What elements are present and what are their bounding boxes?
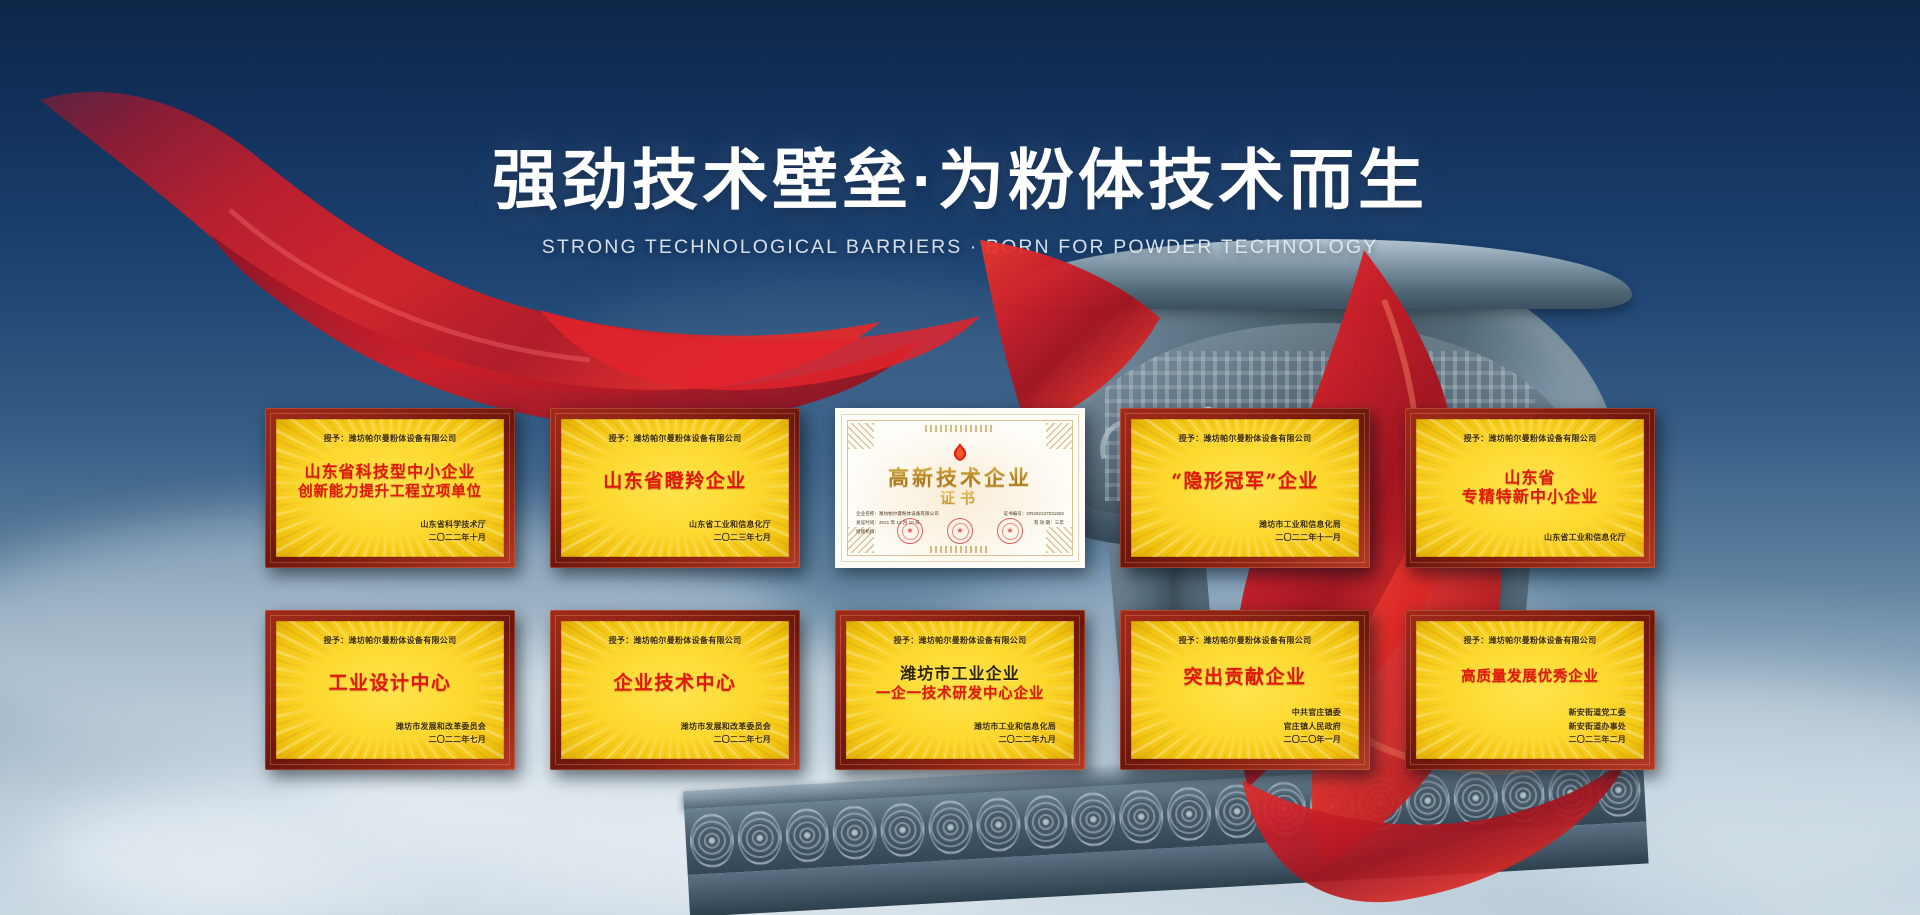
plaque-title-line: 山东省 (1504, 469, 1555, 488)
medallion (1547, 764, 1594, 820)
plaque-title-line: 创新能力提升工程立项单位 (298, 483, 482, 500)
flame-emblem-icon (949, 442, 971, 464)
plaque-title-line: 一企一技术研发中心企业 (876, 685, 1044, 702)
plaque-title-line: 企业技术中心 (613, 672, 736, 694)
official-seal-icon (997, 518, 1023, 544)
plaque-award-to: 授予：潍坊帕尔曼粉体设备有限公司 (324, 635, 457, 646)
plaque-card[interactable]: 授予：潍坊帕尔曼粉体设备有限公司 潍坊市工业企业 一企一技术研发中心企业 潍坊市… (835, 610, 1085, 770)
plaque-award-to: 授予：潍坊帕尔曼粉体设备有限公司 (1179, 635, 1312, 646)
official-seal-icon (897, 518, 923, 544)
plaque-plate: 授予：潍坊帕尔曼粉体设备有限公司 山东省科技型中小企业 创新能力提升工程立项单位… (276, 419, 504, 557)
medallion (927, 799, 974, 855)
top-ornament-icon (925, 425, 995, 432)
page-subtitle: STRONG TECHNOLOGICAL BARRIERS · BORN FOR… (0, 236, 1920, 259)
official-seal-icon (947, 518, 973, 544)
plaque-issuer: 潍坊市工业和信息化局 (860, 720, 1056, 733)
wheat-corner-ornament-icon (848, 423, 874, 449)
plaque-issuer2: 官庄镇人民政府 (1145, 720, 1341, 733)
plaque-signature: 潍坊市工业和信息化局 二〇二二年十一月 (1145, 518, 1345, 544)
certificate-row-2: 授予：潍坊帕尔曼粉体设备有限公司 工业设计中心 潍坊市发展和改革委员会 二〇二二… (265, 610, 1655, 770)
medallion (1261, 780, 1308, 836)
plaque-plate: 授予：潍坊帕尔曼粉体设备有限公司 突出贡献企业 中共官庄镇委 官庄镇人民政府 二… (1131, 621, 1359, 759)
plaque-date: 二〇二〇年一月 (1145, 733, 1341, 746)
plaque-title-line: 潍坊市工业企业 (900, 665, 1020, 684)
plaque-title: 突出贡献企业 (1145, 647, 1345, 706)
plaque-issuer2: 新安街道办事处 (1430, 720, 1626, 733)
medallion (736, 810, 783, 866)
plaque-card[interactable]: 授予：潍坊帕尔曼粉体设备有限公司 山东省科技型中小企业 创新能力提升工程立项单位… (265, 408, 515, 568)
plaque-title: 山东省瞪羚企业 (575, 445, 775, 518)
banner-titles: 强劲技术壁垒·为粉体技术而生 STRONG TECHNOLOGICAL BARR… (0, 142, 1920, 259)
medallion (879, 802, 926, 858)
plaque-title: 工业设计中心 (290, 647, 490, 720)
plaque-award-to: 授予：潍坊帕尔曼粉体设备有限公司 (1464, 635, 1597, 646)
plaque-signature: 山东省科学技术厅 二〇二二年十月 (290, 518, 490, 544)
plaque-issuer: 山东省工业和信息化厅 (1430, 531, 1626, 544)
plaque-date: 二〇二二年七月 (290, 733, 486, 746)
plaque-title: 山东省 专精特新中小企业 (1430, 445, 1630, 531)
plaque-issuer: 新安街道党工委 (1430, 706, 1626, 719)
medallion (1452, 770, 1499, 826)
plaque-card[interactable]: 授予：潍坊帕尔曼粉体设备有限公司 企业技术中心 潍坊市发展和改革委员会 二〇二二… (550, 610, 800, 770)
plaque-signature: 山东省工业和信息化厅 二〇二三年七月 (575, 518, 775, 544)
plaque-signature: 潍坊市工业和信息化局 二〇二二年九月 (860, 720, 1060, 746)
plaque-signature: 潍坊市发展和改革委员会 二〇二二年七月 (290, 720, 490, 746)
plaque-card[interactable]: 授予：潍坊帕尔曼粉体设备有限公司 突出贡献企业 中共官庄镇委 官庄镇人民政府 二… (1120, 610, 1370, 770)
plaque-award-to: 授予：潍坊帕尔曼粉体设备有限公司 (1179, 433, 1312, 444)
plaque-title: 潍坊市工业企业 一企一技术研发中心企业 (860, 647, 1060, 720)
plaque-title-line: 突出贡献企业 (1183, 666, 1306, 688)
medallion (832, 804, 879, 860)
certificate-gallery: 授予：潍坊帕尔曼粉体设备有限公司 山东省科技型中小企业 创新能力提升工程立项单位… (0, 408, 1920, 770)
plaque-award-to: 授予：潍坊帕尔曼粉体设备有限公司 (609, 635, 742, 646)
medallion (784, 807, 831, 863)
plaque-card[interactable]: 授予：潍坊帕尔曼粉体设备有限公司 山东省瞪羚企业 山东省工业和信息化厅 二〇二三… (550, 408, 800, 568)
medallion (1022, 794, 1069, 850)
plaque-plate: 授予：潍坊帕尔曼粉体设备有限公司 工业设计中心 潍坊市发展和改革委员会 二〇二二… (276, 621, 504, 759)
plaque-award-to: 授予：潍坊帕尔曼粉体设备有限公司 (609, 433, 742, 444)
plaque-title-line: 山东省瞪羚企业 (603, 470, 747, 492)
plaque-date: 二〇二三年七月 (575, 531, 771, 544)
plaque-issuer: 潍坊市发展和改革委员会 (575, 720, 771, 733)
plaque-plate: 授予：潍坊帕尔曼粉体设备有限公司 “隐形冠军”企业 潍坊市工业和信息化局 二〇二… (1131, 419, 1359, 557)
plaque-date: 二〇二二年七月 (575, 733, 771, 746)
medallion (1357, 775, 1404, 831)
medallion (1118, 788, 1165, 844)
bottom-ornament-icon (930, 546, 990, 553)
page-title: 强劲技术壁垒·为粉体技术而生 (0, 142, 1920, 219)
plaque-issuer: 山东省科学技术厅 (290, 518, 486, 531)
plaque-title: 企业技术中心 (575, 647, 775, 720)
banner-stage: 强劲技术壁垒·为粉体技术而生 STRONG TECHNOLOGICAL BARR… (0, 0, 1920, 915)
medallion (1213, 783, 1260, 839)
plaque-title: “隐形冠军”企业 (1145, 445, 1345, 518)
medallion (1500, 767, 1547, 823)
plaque-plate: 授予：潍坊帕尔曼粉体设备有限公司 山东省 专精特新中小企业 山东省工业和信息化厅 (1416, 419, 1644, 557)
certificate-face: 高新技术企业 证书 企业名称：潍坊帕尔曼粉体设备有限公司 证书编号：GR2021… (841, 414, 1079, 562)
medallion (1404, 772, 1451, 828)
plaque-title-line: 山东省科技型中小企业 (304, 463, 475, 482)
plaque-award-to: 授予：潍坊帕尔曼粉体设备有限公司 (894, 635, 1027, 646)
plaque-date: 二〇二三年二月 (1430, 733, 1626, 746)
plaque-card[interactable]: 授予：潍坊帕尔曼粉体设备有限公司 山东省 专精特新中小企业 山东省工业和信息化厅 (1405, 408, 1655, 568)
medallion (1070, 791, 1117, 847)
plaque-plate: 授予：潍坊帕尔曼粉体设备有限公司 企业技术中心 潍坊市发展和改革委员会 二〇二二… (561, 621, 789, 759)
plaque-plate: 授予：潍坊帕尔曼粉体设备有限公司 高质量发展优秀企业 新安街道党工委 新安街道办… (1416, 621, 1644, 759)
medallion (1166, 786, 1213, 842)
plaque-signature: 中共官庄镇委 官庄镇人民政府 二〇二〇年一月 (1145, 706, 1345, 746)
plaque-date: 二〇二二年十一月 (1145, 531, 1341, 544)
medallion (1309, 778, 1356, 834)
plaque-title-line: “隐形冠军”企业 (1171, 470, 1319, 492)
plaque-plate: 授予：潍坊帕尔曼粉体设备有限公司 潍坊市工业企业 一企一技术研发中心企业 潍坊市… (846, 621, 1074, 759)
plaque-issuer: 中共官庄镇委 (1145, 706, 1341, 719)
plaque-issuer: 山东省工业和信息化厅 (575, 518, 771, 531)
plaque-issuer: 潍坊市发展和改革委员会 (290, 720, 486, 733)
plaque-signature: 新安街道党工委 新安街道办事处 二〇二三年二月 (1430, 706, 1630, 746)
high-tech-certificate-card[interactable]: 高新技术企业 证书 企业名称：潍坊帕尔曼粉体设备有限公司 证书编号：GR2021… (835, 408, 1085, 568)
wheat-corner-ornament-icon (1046, 423, 1072, 449)
plaque-title-line: 高质量发展优秀企业 (1461, 668, 1599, 685)
medallion (1595, 762, 1642, 818)
plaque-date: 二〇二二年九月 (860, 733, 1056, 746)
plaque-award-to: 授予：潍坊帕尔曼粉体设备有限公司 (1464, 433, 1597, 444)
certificate-subtitle: 证书 (842, 487, 1078, 508)
plaque-title-line: 工业设计中心 (328, 672, 451, 694)
plaque-title-line: 专精特新中小企业 (1462, 488, 1599, 507)
certificate-row-1: 授予：潍坊帕尔曼粉体设备有限公司 山东省科技型中小企业 创新能力提升工程立项单位… (265, 408, 1655, 568)
plaque-issuer: 潍坊市工业和信息化局 (1145, 518, 1341, 531)
plaque-award-to: 授予：潍坊帕尔曼粉体设备有限公司 (324, 433, 457, 444)
medallion (688, 812, 735, 868)
certificate-seals (842, 518, 1078, 544)
medallion (975, 796, 1022, 852)
plaque-signature: 潍坊市发展和改革委员会 二〇二二年七月 (575, 720, 775, 746)
plaque-signature: 山东省工业和信息化厅 (1430, 531, 1630, 544)
plaque-card[interactable]: 授予：潍坊帕尔曼粉体设备有限公司 “隐形冠军”企业 潍坊市工业和信息化局 二〇二… (1120, 408, 1370, 568)
plaque-card[interactable]: 授予：潍坊帕尔曼粉体设备有限公司 工业设计中心 潍坊市发展和改革委员会 二〇二二… (265, 610, 515, 770)
plaque-card[interactable]: 授予：潍坊帕尔曼粉体设备有限公司 高质量发展优秀企业 新安街道党工委 新安街道办… (1405, 610, 1655, 770)
plaque-title: 山东省科技型中小企业 创新能力提升工程立项单位 (290, 445, 490, 518)
plaque-date: 二〇二二年十月 (290, 531, 486, 544)
plaque-plate: 授予：潍坊帕尔曼粉体设备有限公司 山东省瞪羚企业 山东省工业和信息化厅 二〇二三… (561, 419, 789, 557)
plaque-title: 高质量发展优秀企业 (1430, 647, 1630, 706)
